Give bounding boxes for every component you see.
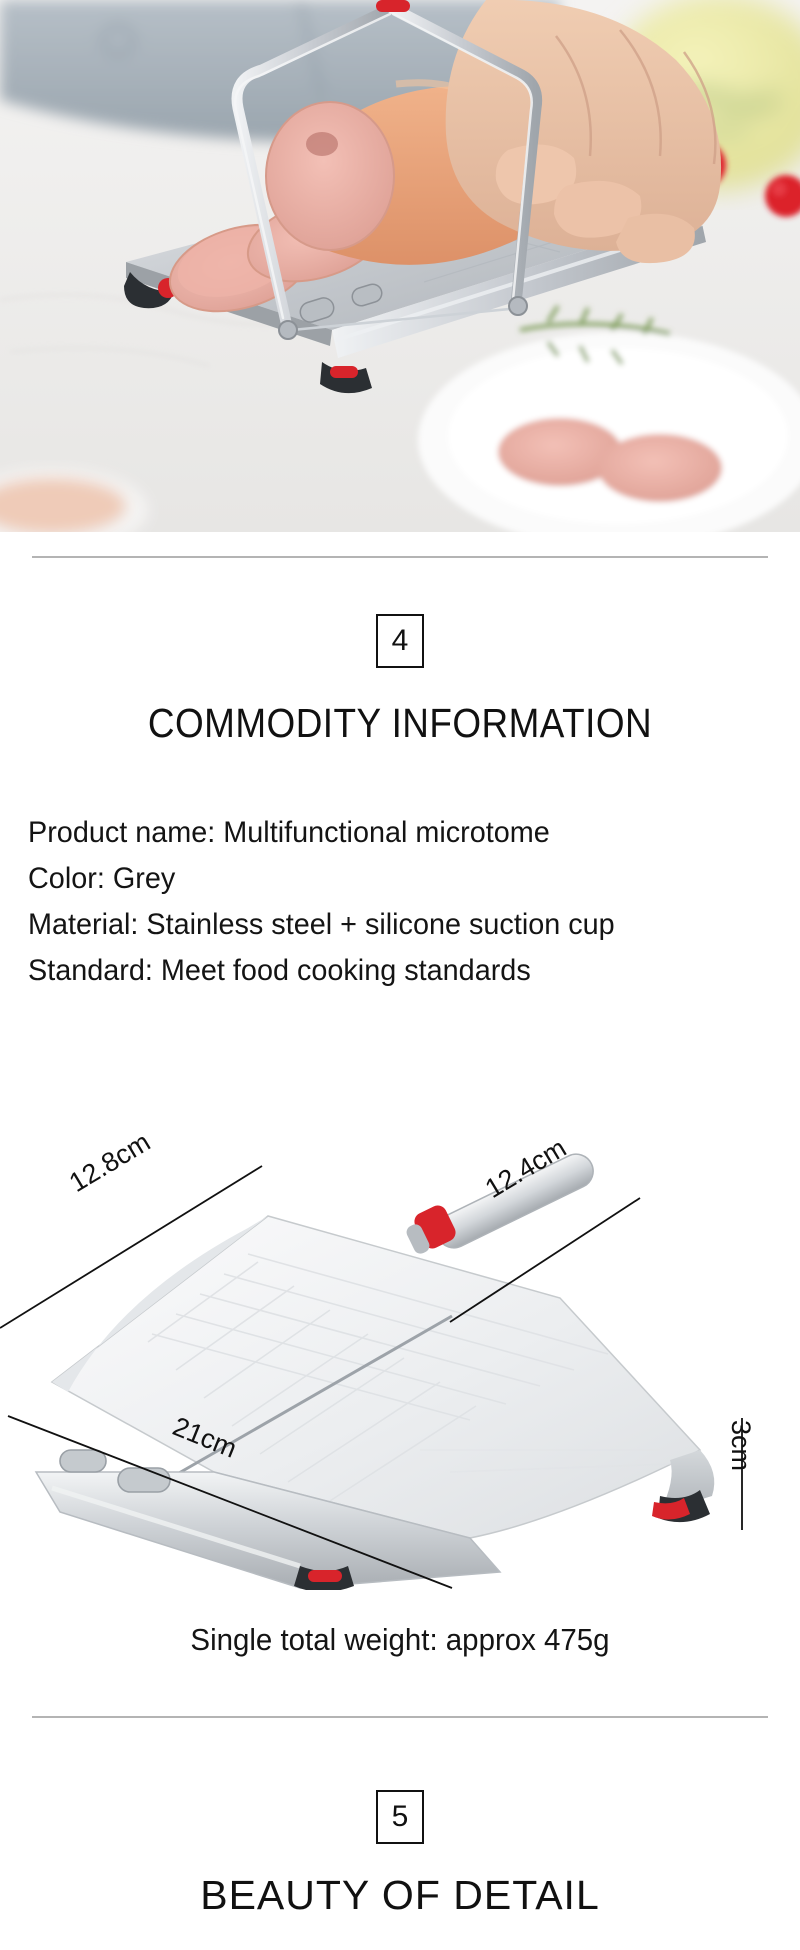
section-number-badge-5: 5	[376, 1790, 424, 1844]
section-divider-top	[32, 556, 768, 558]
section-number-badge-4: 4	[376, 614, 424, 668]
hero-product-photo	[0, 0, 800, 532]
total-weight-text: Single total weight: approx 475g	[20, 1622, 780, 1658]
specification-list: Product name: Multifunctional microtome …	[28, 810, 772, 994]
section-number-5: 5	[392, 1802, 409, 1832]
spec-standard: Standard: Meet food cooking standards	[28, 948, 742, 994]
section-title-beauty-of-detail: BEAUTY OF DETAIL	[0, 1872, 800, 1919]
section-number-4: 4	[392, 626, 409, 656]
section-divider-bottom	[32, 1716, 768, 1718]
spec-color: Color: Grey	[28, 856, 742, 902]
dimension-label-height: 3cm	[725, 1420, 756, 1471]
section-title-commodity-information: COMMODITY INFORMATION	[40, 700, 760, 747]
spec-material: Material: Stainless steel + silicone suc…	[28, 902, 742, 948]
spec-product-name: Product name: Multifunctional microtome	[28, 810, 742, 856]
product-dimension-diagram: 12.8cm 12.4cm 21cm 3cm	[0, 1120, 800, 1590]
